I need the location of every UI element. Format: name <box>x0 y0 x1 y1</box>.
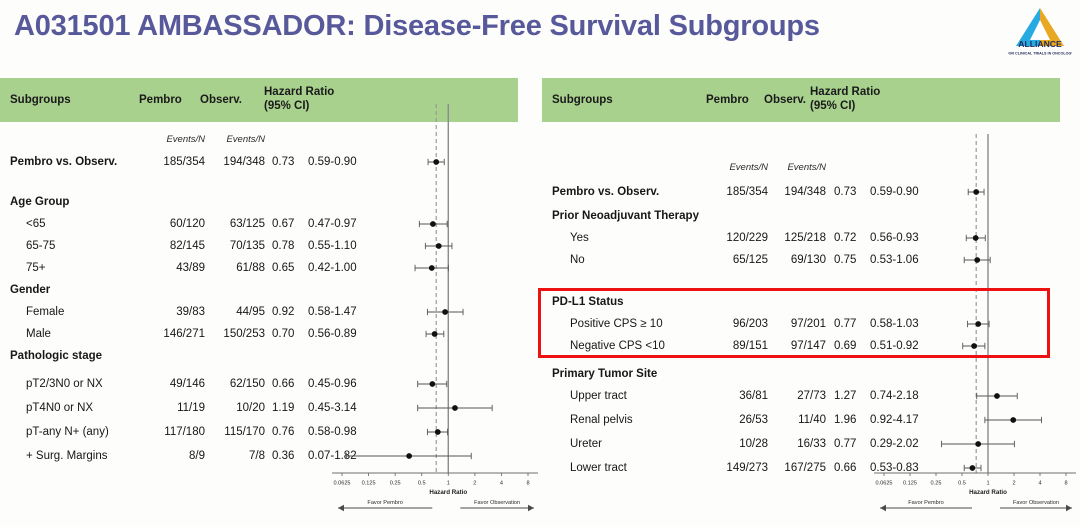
hazard-ratio-value: 0.66 <box>834 462 856 474</box>
point-estimate-marker <box>432 331 438 337</box>
observ-events-n: 167/275 <box>768 462 826 474</box>
favor-pembro-arrowhead-icon <box>880 505 886 511</box>
observ-events-n: 62/150 <box>207 378 265 390</box>
x-axis-tick-label: 0.0625 <box>875 481 892 487</box>
observ-events-n: 10/20 <box>207 402 265 414</box>
favor-observation-label: Favor Observation <box>474 500 520 506</box>
x-axis-tick-label: 0.25 <box>931 481 942 487</box>
observ-events-n: 97/147 <box>768 340 826 352</box>
pembro-events-n: 185/354 <box>710 186 768 198</box>
forest-plot-svg: 0.06250.1250.250.51248Hazard RatioFavor … <box>330 104 540 527</box>
x-axis-tick-label: 0.125 <box>362 481 376 487</box>
forest-marker-group <box>426 331 444 337</box>
subgroup-label: 75+ <box>26 262 46 274</box>
point-estimate-marker <box>406 453 412 459</box>
forest-marker-group <box>964 465 981 471</box>
alliance-logo-mark: ALLIANCE FOR CLINICAL TRIALS IN ONCOLOGY <box>1008 2 1072 60</box>
x-axis-tick-label: 0.125 <box>903 481 917 487</box>
favor-pembro-label: Favor Pembro <box>367 500 402 506</box>
alliance-logo: ALLIANCE FOR CLINICAL TRIALS IN ONCOLOGY <box>1008 2 1072 60</box>
hazard-ratio-value: 1.27 <box>834 390 856 402</box>
forest-marker-group <box>418 405 492 411</box>
forest-marker-group <box>427 429 447 435</box>
subgroup-label: Ureter <box>570 438 602 450</box>
subgroup-label: Yes <box>570 232 589 244</box>
x-axis-tick-label: 4 <box>1038 481 1041 487</box>
observ-events-n: 194/348 <box>768 186 826 198</box>
observ-events-n: 61/88 <box>207 262 265 274</box>
subgroup-label: pT4N0 or NX <box>26 402 93 414</box>
pembro-events-n: 89/151 <box>710 340 768 352</box>
pembro-events-n: 185/354 <box>147 156 205 168</box>
observ-events-n: 194/348 <box>207 156 265 168</box>
hazard-ratio-value: 0.73 <box>834 186 856 198</box>
pembro-events-n: 117/180 <box>147 426 205 438</box>
events-n-observ: Events/N <box>205 134 265 145</box>
x-axis-tick-label: 8 <box>1064 481 1067 487</box>
forest-plot-right: 0.06250.1250.250.51248Hazard RatioFavor … <box>872 134 1078 527</box>
hazard-ratio-value: 0.70 <box>272 328 294 340</box>
x-axis-title: Hazard Ratio <box>969 489 1007 496</box>
observ-events-n: 125/218 <box>768 232 826 244</box>
hazard-ratio-value: 0.77 <box>834 438 856 450</box>
hazard-ratio-value: 0.65 <box>272 262 294 274</box>
point-estimate-marker <box>973 189 979 195</box>
col-header-hazard-ratio: Hazard Ratio <box>810 86 880 99</box>
point-estimate-marker <box>1010 417 1016 423</box>
observ-events-n: 97/201 <box>768 318 826 330</box>
hazard-ratio-value: 0.73 <box>272 156 294 168</box>
forest-marker-group <box>968 189 984 195</box>
col-header-subgroups: Subgroups <box>10 94 71 107</box>
pembro-events-n: 8/9 <box>147 450 205 462</box>
logo-wordmark: ALLIANCE <box>1018 39 1062 49</box>
subgroup-label: Pembro vs. Observ. <box>552 186 659 198</box>
subgroup-label: Female <box>26 306 64 318</box>
forest-marker-group <box>985 417 1042 423</box>
observ-events-n: 7/8 <box>207 450 265 462</box>
forest-marker-group <box>964 257 990 263</box>
pembro-events-n: 43/89 <box>147 262 205 274</box>
observ-events-n: 63/125 <box>207 218 265 230</box>
x-axis-tick-label: 2 <box>1012 481 1015 487</box>
subgroup-label: Positive CPS ≥ 10 <box>570 318 663 330</box>
forest-marker-group <box>418 381 447 387</box>
observ-events-n: 70/135 <box>207 240 265 252</box>
forest-plot-svg: 0.06250.1250.250.51248Hazard RatioFavor … <box>872 134 1078 527</box>
hazard-ratio-value: 0.36 <box>272 450 294 462</box>
forest-marker-group <box>415 265 448 271</box>
subgroup-label: Age Group <box>10 196 69 208</box>
subgroup-label: Pathologic stage <box>10 350 102 362</box>
events-n-pembro: Events/N <box>145 134 205 145</box>
pembro-events-n: 11/19 <box>147 402 205 414</box>
hazard-ratio-value: 0.77 <box>834 318 856 330</box>
hazard-ratio-value: 1.96 <box>834 414 856 426</box>
forest-marker-group <box>346 453 471 459</box>
subgroup-label: pT-any N+ (any) <box>26 426 109 438</box>
col-header-hazard-ratio-ci: (95% CI) <box>810 100 855 113</box>
x-axis-tick-label: 0.25 <box>390 481 401 487</box>
pembro-events-n: 65/125 <box>710 254 768 266</box>
subgroup-label: Negative CPS <10 <box>570 340 665 352</box>
favor-observation-label: Favor Observation <box>1013 500 1059 506</box>
pembro-events-n: 120/229 <box>710 232 768 244</box>
subgroup-label: + Surg. Margins <box>26 450 108 462</box>
forest-marker-group <box>942 441 1015 447</box>
point-estimate-marker <box>429 265 435 271</box>
page-title: A031501 AMBASSADOR: Disease-Free Surviva… <box>14 10 820 43</box>
table-header-right: Subgroups Pembro Observ. Hazard Ratio (9… <box>542 78 1060 122</box>
x-axis-tick-label: 4 <box>500 481 503 487</box>
hazard-ratio-value: 0.92 <box>272 306 294 318</box>
pembro-events-n: 96/203 <box>710 318 768 330</box>
pembro-events-n: 26/53 <box>710 414 768 426</box>
forest-marker-group <box>977 393 1018 399</box>
x-axis-tick-label: 8 <box>526 481 529 487</box>
subgroup-label: Primary Tumor Site <box>552 368 657 380</box>
forest-marker-group <box>966 235 985 241</box>
x-axis-tick-label: 1 <box>986 481 989 487</box>
pembro-events-n: 60/120 <box>147 218 205 230</box>
subgroup-label: Pembro vs. Observ. <box>10 156 117 168</box>
observ-events-n: 27/73 <box>768 390 826 402</box>
hazard-ratio-value: 0.76 <box>272 426 294 438</box>
pembro-events-n: 49/146 <box>147 378 205 390</box>
forest-marker-group <box>419 221 447 227</box>
hazard-ratio-value: 1.19 <box>272 402 294 414</box>
pembro-events-n: 36/81 <box>710 390 768 402</box>
point-estimate-marker <box>975 321 981 327</box>
subgroup-label: <65 <box>26 218 46 230</box>
col-header-hazard-ratio-ci: (95% CI) <box>264 100 309 113</box>
x-axis-tick-label: 1 <box>447 481 450 487</box>
col-header-pembro: Pembro <box>139 94 182 107</box>
pembro-events-n: 10/28 <box>710 438 768 450</box>
forest-marker-group <box>963 343 985 349</box>
favor-pembro-label: Favor Pembro <box>908 500 943 506</box>
x-axis-tick-label: 2 <box>473 481 476 487</box>
point-estimate-marker <box>971 343 977 349</box>
point-estimate-marker <box>970 465 976 471</box>
subgroup-label: No <box>570 254 585 266</box>
favor-observation-arrowhead-icon <box>1066 505 1072 511</box>
logo-tagline: FOR CLINICAL TRIALS IN ONCOLOGY <box>1008 52 1072 56</box>
subgroup-label: Prior Neoadjuvant Therapy <box>552 210 699 222</box>
forest-panel-left: Subgroups Pembro Observ. Hazard Ratio (9… <box>0 78 540 527</box>
subgroup-label: Gender <box>10 284 50 296</box>
point-estimate-marker <box>433 159 439 165</box>
subgroup-label: Male <box>26 328 51 340</box>
subgroup-label: Renal pelvis <box>570 414 633 426</box>
point-estimate-marker <box>974 257 980 263</box>
point-estimate-marker <box>430 221 436 227</box>
forest-marker-group <box>968 321 990 327</box>
hazard-ratio-value: 0.75 <box>834 254 856 266</box>
forest-panel-right: Subgroups Pembro Observ. Hazard Ratio (9… <box>538 78 1080 527</box>
pembro-events-n: 82/145 <box>147 240 205 252</box>
subgroup-label: pT2/3N0 or NX <box>26 378 103 390</box>
observ-events-n: 11/40 <box>768 414 826 426</box>
observ-events-n: 115/170 <box>207 426 265 438</box>
subgroup-label: Upper tract <box>570 390 627 402</box>
forest-marker-group <box>428 159 444 165</box>
x-axis-title: Hazard Ratio <box>429 489 467 496</box>
col-header-observ: Observ. <box>764 94 806 107</box>
x-axis-tick-label: 0.0625 <box>333 481 350 487</box>
subgroup-label: 65-75 <box>26 240 55 252</box>
observ-events-n: 44/95 <box>207 306 265 318</box>
observ-events-n: 69/130 <box>768 254 826 266</box>
hazard-ratio-value: 0.69 <box>834 340 856 352</box>
hazard-ratio-value: 0.67 <box>272 218 294 230</box>
events-n-pembro: Events/N <box>708 162 768 173</box>
col-header-subgroups: Subgroups <box>552 94 613 107</box>
x-axis-tick-label: 0.5 <box>418 481 426 487</box>
forest-plot-left: 0.06250.1250.250.51248Hazard RatioFavor … <box>330 104 540 527</box>
point-estimate-marker <box>973 235 979 241</box>
observ-events-n: 16/33 <box>768 438 826 450</box>
pembro-events-n: 149/273 <box>710 462 768 474</box>
x-axis-tick-label: 0.5 <box>958 481 966 487</box>
hazard-ratio-value: 0.72 <box>834 232 856 244</box>
slide-root: A031501 AMBASSADOR: Disease-Free Surviva… <box>0 0 1080 527</box>
hazard-ratio-value: 0.66 <box>272 378 294 390</box>
col-header-pembro: Pembro <box>706 94 749 107</box>
forest-marker-group <box>427 309 463 315</box>
observ-events-n: 150/253 <box>207 328 265 340</box>
point-estimate-marker <box>435 429 441 435</box>
col-header-hazard-ratio: Hazard Ratio <box>264 86 334 99</box>
point-estimate-marker <box>436 243 442 249</box>
point-estimate-marker <box>975 441 981 447</box>
point-estimate-marker <box>442 309 448 315</box>
col-header-observ: Observ. <box>200 94 242 107</box>
pembro-events-n: 39/83 <box>147 306 205 318</box>
events-n-observ: Events/N <box>766 162 826 173</box>
point-estimate-marker <box>452 405 458 411</box>
point-estimate-marker <box>429 381 435 387</box>
favor-pembro-arrowhead-icon <box>338 505 344 511</box>
hazard-ratio-value: 0.78 <box>272 240 294 252</box>
point-estimate-marker <box>994 393 1000 399</box>
subgroup-label: PD-L1 Status <box>552 296 624 308</box>
pembro-events-n: 146/271 <box>147 328 205 340</box>
favor-observation-arrowhead-icon <box>528 505 534 511</box>
subgroup-label: Lower tract <box>570 462 627 474</box>
